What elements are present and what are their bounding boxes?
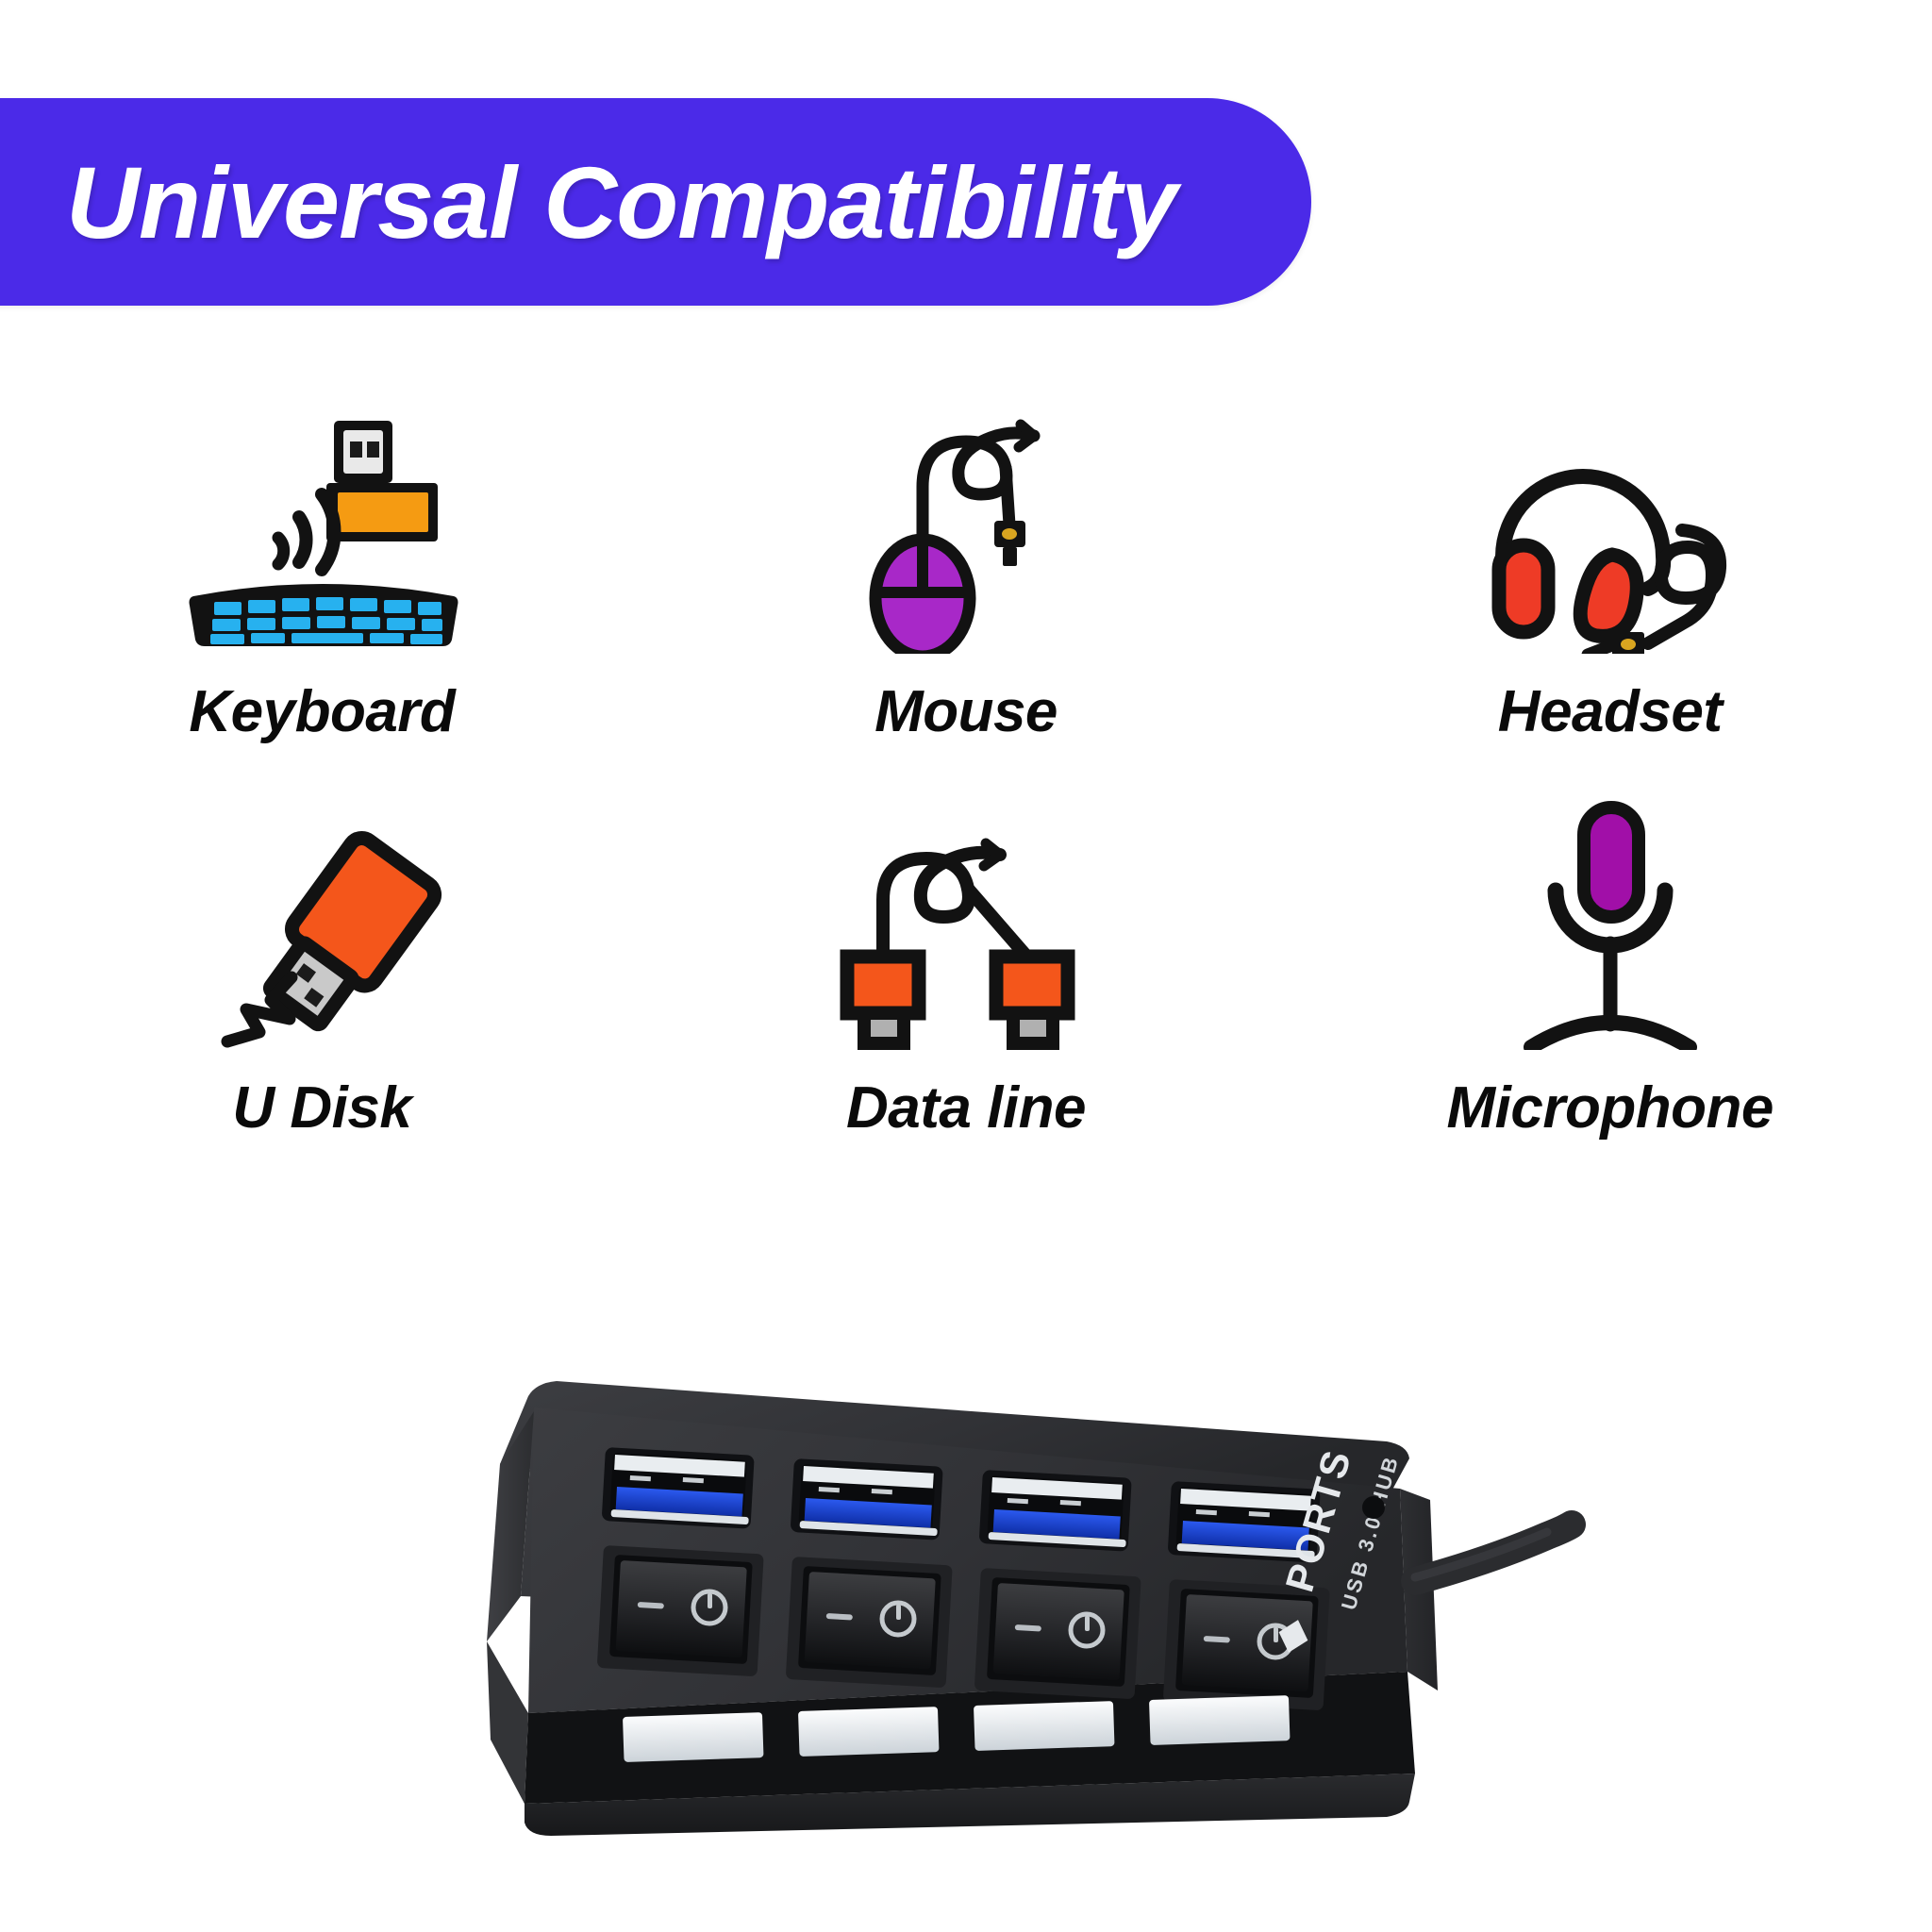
power-switch-3 (974, 1568, 1141, 1699)
microphone-icon (1469, 800, 1752, 1050)
power-switch-4 (1163, 1579, 1330, 1710)
power-switch-2 (786, 1557, 953, 1688)
usb-port-1 (602, 1447, 755, 1529)
led-indicator-2 (798, 1707, 940, 1757)
wireless-keyboard-icon (180, 404, 463, 654)
grid-item-dataline: Data line (644, 802, 1289, 1141)
headset-icon (1469, 404, 1752, 654)
grid-item-mouse: Mouse (644, 406, 1289, 745)
usb-data-cable-icon (824, 800, 1108, 1050)
grid-item-keyboard: Keyboard (0, 406, 644, 745)
grid-item-udisk: U Disk (0, 802, 644, 1141)
usb-flash-drive-icon (180, 800, 463, 1050)
led-indicator-1 (623, 1712, 764, 1762)
power-switch-1 (597, 1545, 764, 1676)
compatibility-grid: Keyboard Mouse (0, 406, 1932, 1141)
item-label-keyboard: Keyboard (189, 678, 455, 745)
product-image-usb-hub: PORTS USB 3.0 HUB (0, 1358, 1932, 1887)
item-label-microphone: Microphone (1447, 1074, 1774, 1141)
banner: Universal Compatibility (0, 98, 1311, 306)
usb-mouse-icon (824, 404, 1108, 654)
usb-port-3 (979, 1470, 1132, 1552)
page-title: Universal Compatibility (66, 143, 1176, 261)
grid-item-headset: Headset (1288, 406, 1932, 745)
item-label-udisk: U Disk (232, 1074, 411, 1141)
item-label-mouse: Mouse (874, 678, 1058, 745)
led-indicator-3 (974, 1701, 1115, 1751)
status-pinhole (1362, 1496, 1385, 1519)
usb-port-2 (791, 1458, 943, 1541)
item-label-dataline: Data line (846, 1074, 1086, 1141)
grid-item-microphone: Microphone (1288, 802, 1932, 1141)
led-indicator-4 (1149, 1695, 1291, 1745)
item-label-headset: Headset (1498, 678, 1723, 745)
